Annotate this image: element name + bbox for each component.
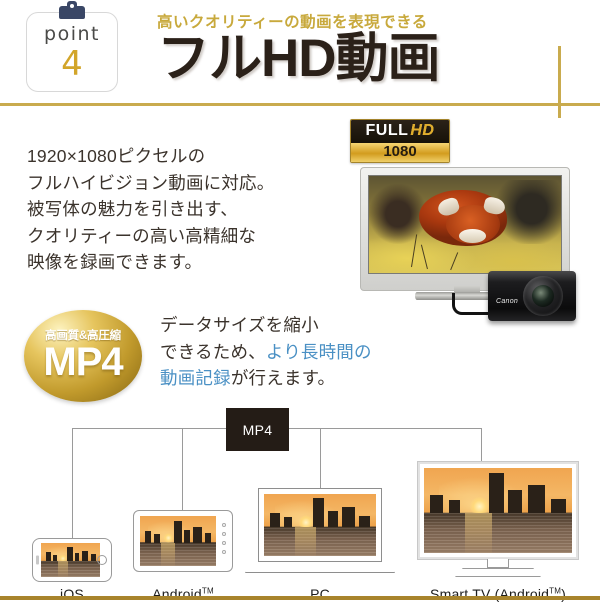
smarttv-water xyxy=(424,513,572,553)
ios-water-reflection xyxy=(58,561,69,577)
android-sun xyxy=(164,533,174,543)
device-pc-laptop xyxy=(258,488,382,573)
mp4-copy-line-3-highlight: 動画記録 xyxy=(160,368,231,388)
point-number: 4 xyxy=(61,47,83,81)
android-building-2 xyxy=(154,534,159,543)
ios-screen-image xyxy=(41,543,100,577)
point-badge: point 4 xyxy=(26,12,118,92)
infographic-page: point 4 高いクオリティーの動画を表現できる フルHD動画 1920×10… xyxy=(0,0,600,600)
smarttv-building-5 xyxy=(528,485,546,513)
android-building-3 xyxy=(174,521,182,543)
bottom-border xyxy=(0,596,600,600)
camera-lens-outer xyxy=(523,276,563,316)
camera-brand-label: Canon xyxy=(496,298,518,305)
header-divider xyxy=(0,103,600,106)
diagram-drop-android xyxy=(182,428,183,510)
android-water xyxy=(140,543,216,567)
diagram-source-box: MP4 xyxy=(226,408,289,451)
pc-water-reflection xyxy=(295,527,315,556)
mp4-copy-line-3-plain: が行えます。 xyxy=(231,368,335,388)
mp4-paragraph: データサイズを縮小 できるため、より長時間の 動画記録が行えます。 xyxy=(160,312,372,392)
smarttv-building-3 xyxy=(489,473,504,513)
full-hd-badge: FULLHD 1080 xyxy=(350,119,450,163)
full-hd-resolution: 1080 xyxy=(351,143,449,163)
diagram-drop-pc xyxy=(320,428,321,490)
device-smart-tv xyxy=(418,462,578,577)
ios-building-1 xyxy=(46,552,51,561)
camera-cable xyxy=(452,293,492,315)
television-screen xyxy=(368,175,562,274)
android-trademark-2: TM xyxy=(549,586,561,595)
pc-building-2 xyxy=(284,517,292,527)
tv-camera-photo: Canon xyxy=(356,167,578,297)
red-panda-snout xyxy=(459,229,486,243)
mp4-copy-line-2: できるため、より長時間の xyxy=(160,339,372,366)
android-trademark-1: TM xyxy=(202,586,214,595)
android-building-5 xyxy=(193,527,201,543)
smarttv-building-6 xyxy=(551,499,566,513)
pc-building-1 xyxy=(270,513,280,527)
smart-tv-neck xyxy=(487,559,509,568)
android-building-6 xyxy=(205,533,212,543)
diagram-drop-ios xyxy=(72,428,73,538)
smarttv-building-1 xyxy=(430,495,443,513)
lead-paragraph: 1920×1080ピクセルの フルハイビジョン動画に対応。 被写体の魅力を引き出… xyxy=(27,143,274,276)
ios-water xyxy=(41,561,100,577)
ios-building-6 xyxy=(91,554,96,561)
pc-building-4 xyxy=(328,511,338,527)
mp4-badge: 高画質&高圧縮 MP4 xyxy=(24,310,142,402)
smarttv-water-reflection xyxy=(465,513,492,553)
compact-camera: Canon xyxy=(488,271,576,321)
mp4-copy-line-1: データサイズを縮小 xyxy=(160,312,372,339)
smart-tv-stand xyxy=(455,568,541,577)
smart-tv-frame xyxy=(418,462,578,559)
pc-screen-image xyxy=(264,494,376,556)
ios-building-3 xyxy=(67,547,73,561)
full-hd-badge-top: FULLHD xyxy=(351,120,449,143)
laptop-lid xyxy=(258,488,382,562)
device-android-tablet xyxy=(133,510,233,572)
tablet-button-dots xyxy=(222,523,226,559)
pc-building-5 xyxy=(342,507,354,527)
laptop-base xyxy=(245,562,395,573)
ios-building-4 xyxy=(75,553,80,561)
device-compatibility-diagram: MP4 xyxy=(0,400,600,600)
mp4-copy-line-3: 動画記録が行えます。 xyxy=(160,365,372,392)
pc-water xyxy=(264,527,376,556)
mp4-badge-name: MP4 xyxy=(43,344,122,381)
full-hd-hd-text: HD xyxy=(410,122,434,139)
page-title: フルHD動画 xyxy=(157,32,440,85)
clipboard-clip-icon xyxy=(59,6,85,19)
smarttv-building-4 xyxy=(508,490,521,513)
pc-building-3 xyxy=(313,498,324,527)
camera-lens-inner xyxy=(532,285,554,307)
ios-building-5 xyxy=(82,551,88,561)
android-screen-image xyxy=(140,516,216,566)
point-label: point xyxy=(44,25,100,44)
device-ios-phone xyxy=(32,538,112,582)
pc-building-6 xyxy=(359,516,370,527)
smarttv-building-2 xyxy=(449,500,459,513)
android-water-reflection xyxy=(161,543,175,567)
full-hd-full-text: FULL xyxy=(366,122,409,139)
mp4-copy-line-2-highlight: より長時間の xyxy=(266,342,372,362)
smarttv-screen-image xyxy=(424,468,572,553)
android-building-4 xyxy=(184,530,190,543)
header-vertical-accent xyxy=(558,46,561,118)
android-building-1 xyxy=(145,531,152,543)
background-shadow-left xyxy=(369,184,427,244)
diagram-source-label: MP4 xyxy=(243,422,273,438)
mp4-copy-line-2-plain: できるため、 xyxy=(160,342,266,362)
